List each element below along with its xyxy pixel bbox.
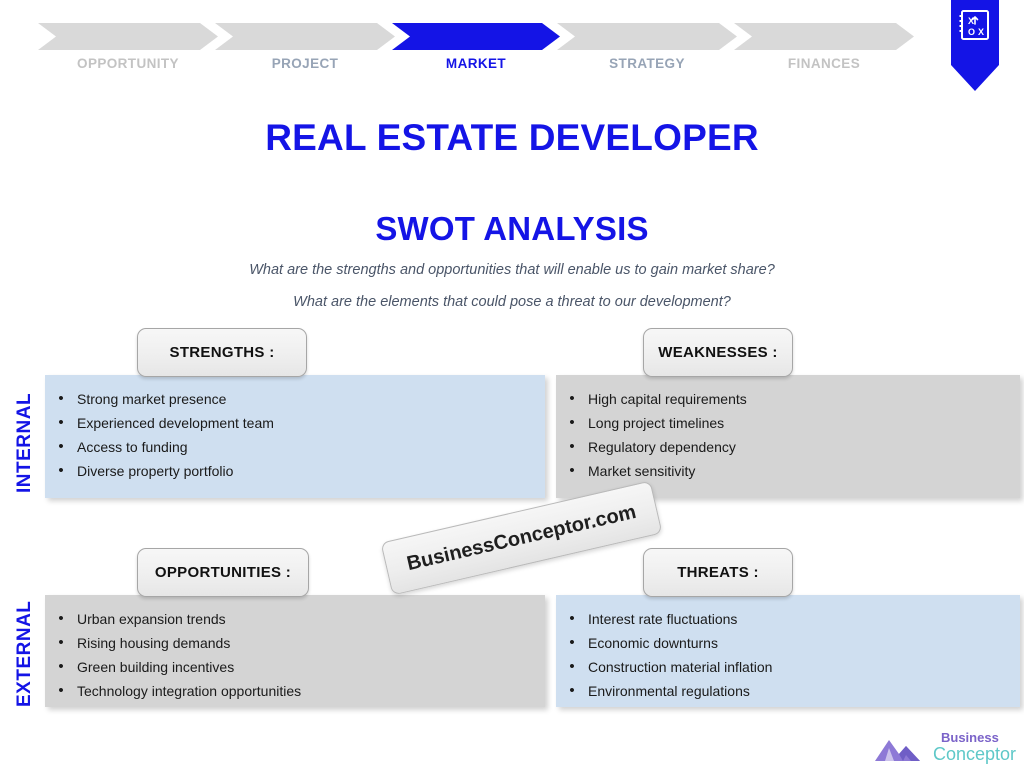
threats-list: • Interest rate fluctuations • Economic … [556,607,1020,703]
quadrant-box-threats: • Interest rate fluctuations • Economic … [556,595,1020,707]
list-item: • Diverse property portfolio [45,459,545,483]
list-item-label: Interest rate fluctuations [588,607,1020,631]
strengths-list: • Strong market presence • Experienced d… [45,387,545,483]
list-item-label: Green building incentives [77,655,545,679]
list-item: • Environmental regulations [556,679,1020,703]
list-item: • Urban expansion trends [45,607,545,631]
list-item: • Access to funding [45,435,545,459]
list-item: • Long project timelines [556,411,1020,435]
bullet-icon: • [556,655,588,679]
nav-label-project[interactable]: PROJECT [215,56,395,71]
list-item: • Market sensitivity [556,459,1020,483]
quadrant-title-threats: THREATS : [643,548,793,597]
nav-label-market[interactable]: MARKET [392,56,560,71]
bullet-icon: • [45,459,77,483]
nav-chevron-market[interactable] [392,23,560,50]
bullet-icon: • [45,435,77,459]
nav-chevron-project[interactable] [215,23,395,50]
bullet-icon: • [556,631,588,655]
list-item-label: Urban expansion trends [77,607,545,631]
bullet-icon: • [556,679,588,703]
page-title: REAL ESTATE DEVELOPER [0,117,1024,159]
list-item: • Experienced development team [45,411,545,435]
bullet-icon: • [556,411,588,435]
axis-label-external: EXTERNAL [14,592,36,707]
brand-word-conceptor: Conceptor [933,745,1021,764]
quadrant-box-weaknesses: • High capital requirements • Long proje… [556,375,1020,498]
opportunities-list: • Urban expansion trends • Rising housin… [45,607,545,703]
bullet-icon: • [45,679,77,703]
list-item: • Economic downturns [556,631,1020,655]
quadrant-title-opportunities: OPPORTUNITIES : [137,548,309,597]
nav-chevron-finances[interactable] [734,23,914,50]
list-item: • Rising housing demands [45,631,545,655]
list-item-label: High capital requirements [588,387,1020,411]
list-item: • High capital requirements [556,387,1020,411]
list-item: • Construction material inflation [556,655,1020,679]
nav-chevron-opportunity[interactable] [38,23,218,50]
quadrant-box-strengths: • Strong market presence • Experienced d… [45,375,545,498]
bullet-icon: • [45,607,77,631]
list-item: • Interest rate fluctuations [556,607,1020,631]
list-item-label: Environmental regulations [588,679,1020,703]
quadrant-box-opportunities: • Urban expansion trends • Rising housin… [45,595,545,707]
list-item-label: Strong market presence [77,387,545,411]
brand-wordmark: Business Conceptor [933,731,1021,764]
list-item: • Regulatory dependency [556,435,1020,459]
quadrant-title-strengths: STRENGTHS : [137,328,307,377]
list-item-label: Economic downturns [588,631,1020,655]
svg-text:X: X [968,16,974,26]
axis-label-internal: INTERNAL [14,378,36,493]
brand-logo: Business Conceptor [873,729,1018,765]
list-item: • Technology integration opportunities [45,679,545,703]
svg-text:O: O [968,27,975,37]
list-item-label: Market sensitivity [588,459,1020,483]
nav-label-opportunity[interactable]: OPPORTUNITY [38,56,218,71]
bullet-icon: • [556,435,588,459]
list-item-label: Access to funding [77,435,545,459]
list-item-label: Technology integration opportunities [77,679,545,703]
svg-text:X: X [978,27,984,37]
list-item-label: Experienced development team [77,411,545,435]
bullet-icon: • [556,459,588,483]
brand-word-business: Business [941,731,1021,745]
bullet-icon: • [45,411,77,435]
swot-title: SWOT ANALYSIS [0,210,1024,248]
bullet-icon: • [45,631,77,655]
bullet-icon: • [556,607,588,631]
mountains-icon [873,735,935,763]
nav-chevron-strategy[interactable] [557,23,737,50]
list-item-label: Rising housing demands [77,631,545,655]
bullet-icon: • [556,387,588,411]
strategy-playbook-icon: X O X [959,8,991,44]
bullet-icon: • [45,655,77,679]
process-step-nav: OPPORTUNITY PROJECT MARKET STRATEGY FINA… [0,0,1024,92]
nav-label-strategy[interactable]: STRATEGY [557,56,737,71]
list-item: • Green building incentives [45,655,545,679]
list-item-label: Regulatory dependency [588,435,1020,459]
nav-label-finances[interactable]: FINANCES [734,56,914,71]
list-item: • Strong market presence [45,387,545,411]
subtitle-question-1: What are the strengths and opportunities… [0,262,1024,278]
bullet-icon: • [45,387,77,411]
list-item-label: Diverse property portfolio [77,459,545,483]
subtitle-question-2: What are the elements that could pose a … [0,294,1024,310]
list-item-label: Long project timelines [588,411,1020,435]
list-item-label: Construction material inflation [588,655,1020,679]
quadrant-title-weaknesses: WEAKNESSES : [643,328,793,377]
weaknesses-list: • High capital requirements • Long proje… [556,387,1020,483]
